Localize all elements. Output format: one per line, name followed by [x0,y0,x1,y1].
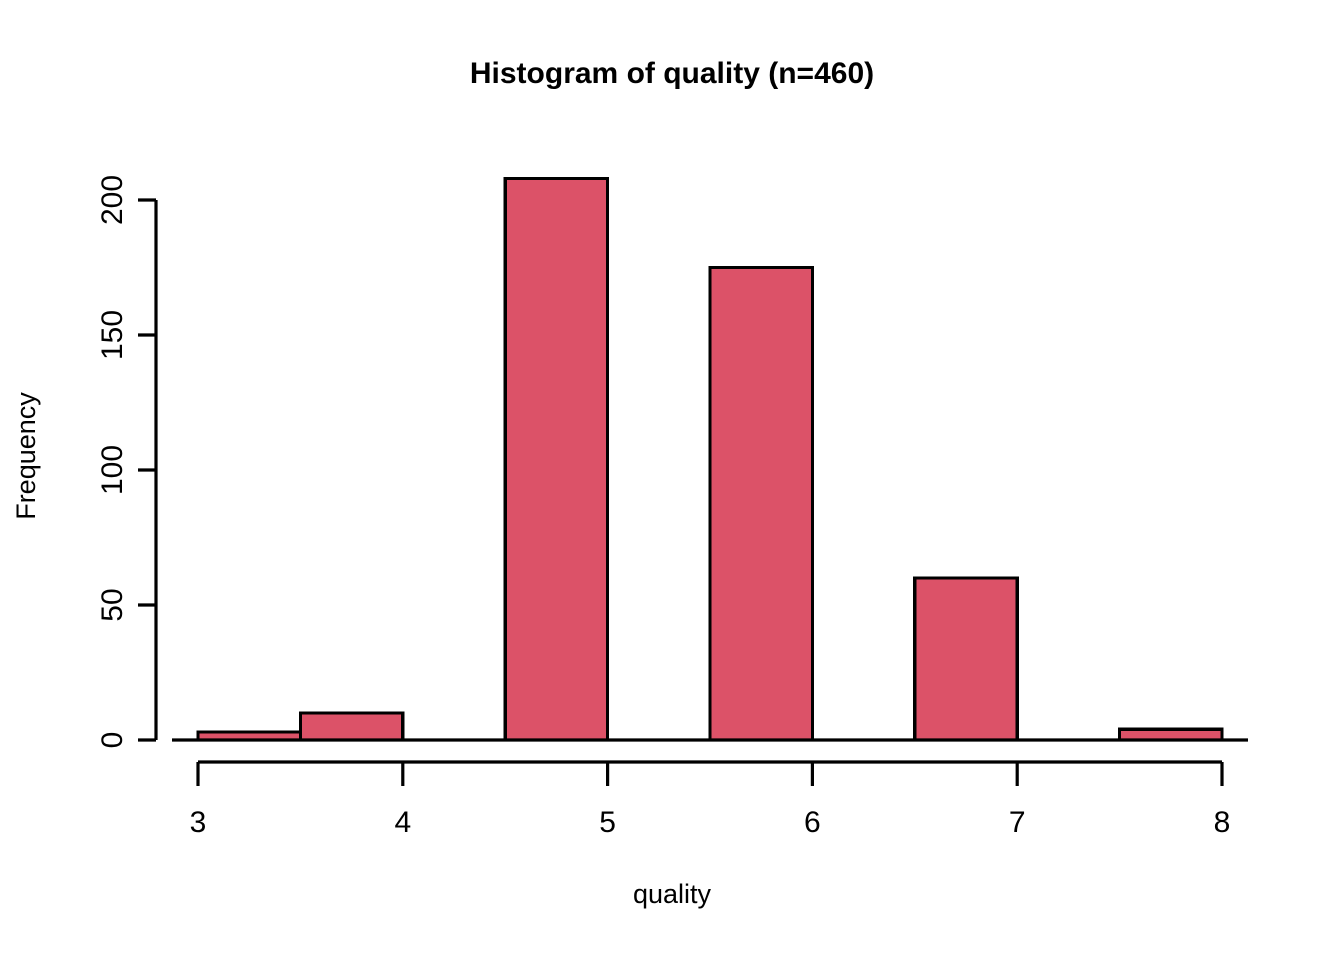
chart-canvas: 050100150200 345678 [0,0,1344,960]
histogram-bar [710,268,812,741]
histogram-bar [300,713,402,740]
x-tick-labels: 345678 [190,806,1231,839]
bars-group [198,178,1222,740]
y-tick-labels: 050100150200 [96,175,129,748]
y-tick-label: 150 [96,310,129,360]
x-tick-label: 8 [1214,806,1231,839]
y-tick-label: 0 [96,732,129,749]
x-tick-label: 3 [190,806,207,839]
histogram-bar [505,178,607,740]
y-tick-label: 200 [96,175,129,225]
histogram-bar [1120,729,1222,740]
x-tick-label: 5 [599,806,616,839]
x-axis [198,762,1222,786]
histogram-bar [915,578,1017,740]
y-axis-title: Frequency [10,346,42,566]
x-tick-label: 7 [1009,806,1026,839]
y-axis [138,200,156,740]
x-tick-label: 4 [394,806,411,839]
histogram-plot: Histogram of quality (n=460) 05010015020… [0,0,1344,960]
x-tick-label: 6 [804,806,821,839]
x-axis-title: quality [0,878,1344,910]
y-tick-label: 100 [96,445,129,495]
y-tick-label: 50 [96,588,129,621]
